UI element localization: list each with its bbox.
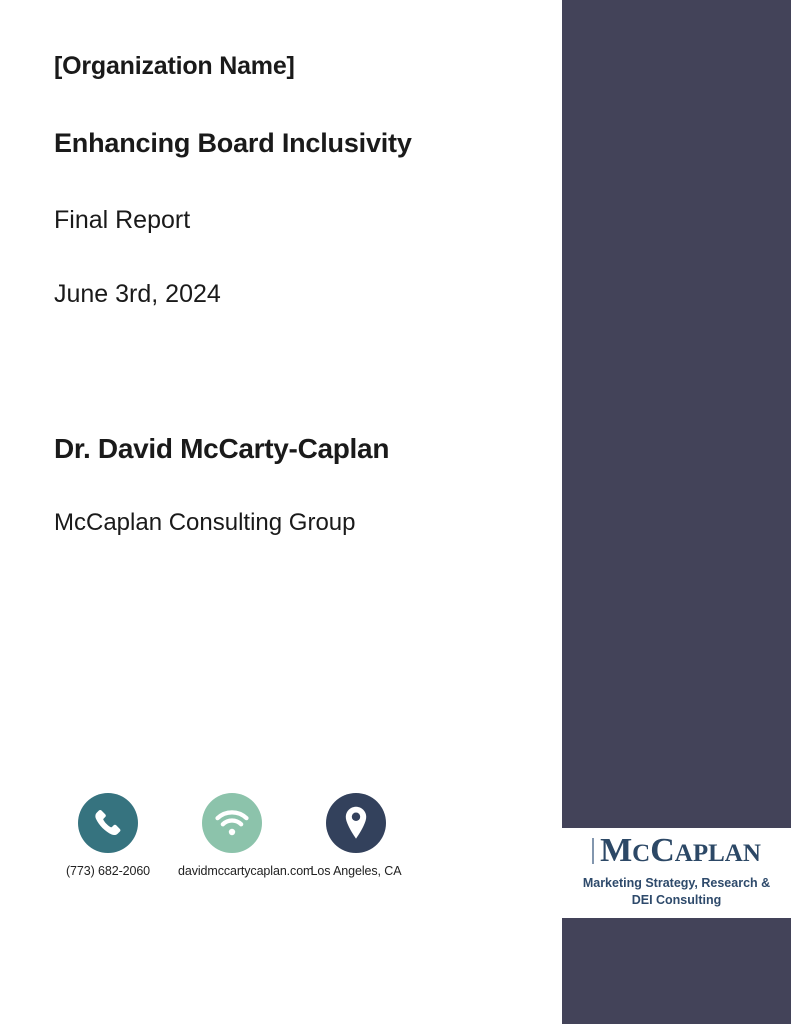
logo-tagline-line2: DEI Consulting (572, 892, 782, 909)
contact-label-phone: (773) 682-2060 (54, 864, 162, 878)
logo-letter-c: C (650, 832, 675, 869)
company-logo: MCCAPLAN Marketing Strategy, Research & … (562, 828, 791, 918)
logo-letters-aplan: APLAN (675, 840, 761, 867)
contact-label-website: davidmccartycaplan.com (178, 864, 286, 878)
contact-item-website[interactable]: davidmccartycaplan.com (178, 793, 286, 878)
phone-icon (78, 793, 138, 853)
report-date: June 3rd, 2024 (54, 280, 221, 309)
author-name: Dr. David McCarty-Caplan (54, 433, 389, 465)
logo-letter-c-small: C (632, 840, 650, 867)
logo-text: MCCAPLAN (600, 834, 761, 868)
contact-row: (773) 682-2060 davidmccartycaplan.com Lo… (54, 793, 524, 893)
page-title: Enhancing Board Inclusivity (54, 128, 412, 159)
location-pin-icon (326, 793, 386, 853)
wifi-icon (202, 793, 262, 853)
logo-wordmark: MCCAPLAN (592, 834, 761, 868)
report-cover-page: [Organization Name] Enhancing Board Incl… (0, 0, 791, 1024)
logo-tagline-line1: Marketing Strategy, Research & (572, 875, 782, 892)
logo-letter-m: M (600, 832, 632, 869)
logo-rule-icon (592, 838, 594, 864)
contact-label-address: Los Angeles, CA (302, 864, 410, 878)
logo-tagline: Marketing Strategy, Research & DEI Consu… (572, 875, 782, 908)
contact-item-phone[interactable]: (773) 682-2060 (54, 793, 162, 878)
contact-item-address[interactable]: Los Angeles, CA (302, 793, 410, 878)
report-type: Final Report (54, 206, 190, 235)
organization-name: [Organization Name] (54, 52, 295, 81)
author-organization: McCaplan Consulting Group (54, 509, 356, 537)
